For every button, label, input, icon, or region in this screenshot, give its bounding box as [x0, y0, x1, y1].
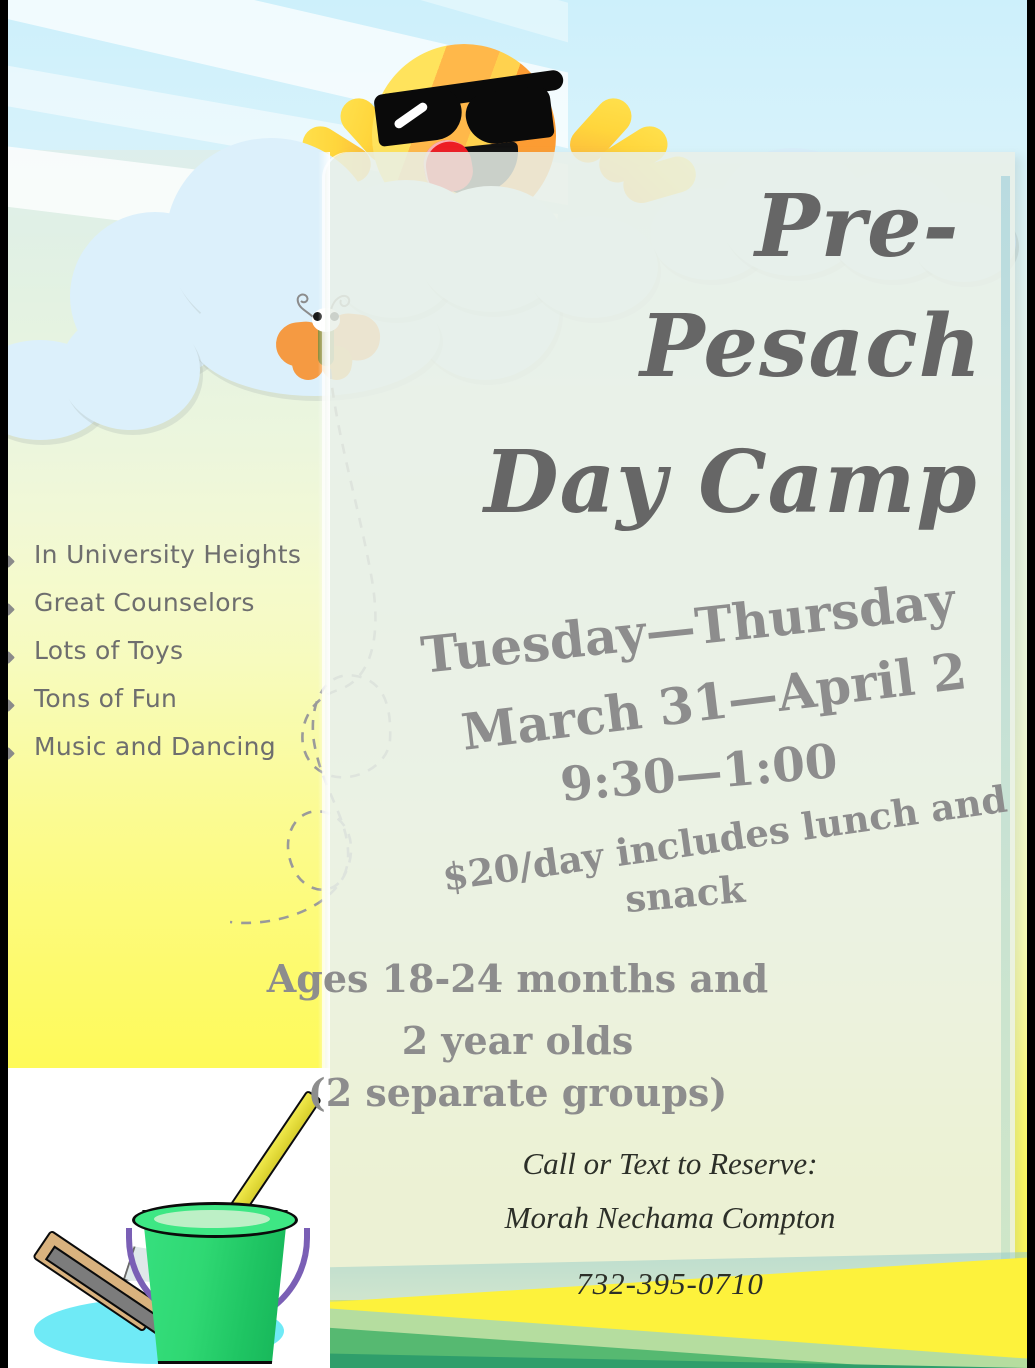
panel-right-rail [1001, 176, 1010, 1300]
ages-line-3: (2 separate groups) [0, 1070, 1035, 1115]
page-title-line-2: Pesach [640, 296, 982, 397]
page-title-line-3: Day Camp [484, 432, 978, 533]
list-item-label: Lots of Toys [34, 636, 183, 665]
features-list: In University Heights Great Counselors L… [0, 540, 330, 780]
ages-line-2: 2 year olds [0, 1018, 1035, 1063]
ages-line-1: Ages 18-24 months and [0, 956, 1035, 1001]
flyer-canvas: Pre- Pesach Day Camp In University Heigh… [0, 0, 1035, 1368]
contact-name: Morah Nechama Compton [325, 1200, 1015, 1236]
contact-prompt: Call or Text to Reserve: [325, 1146, 1015, 1182]
contact-phone[interactable]: 732-395-0710 [325, 1266, 1015, 1302]
list-item: Great Counselors [0, 588, 330, 636]
page-title-line-1: Pre- [755, 176, 959, 277]
list-item: Lots of Toys [0, 636, 330, 684]
list-item-label: Tons of Fun [34, 684, 177, 713]
list-item-label: Music and Dancing [34, 732, 276, 761]
page-border-right [1027, 0, 1035, 1368]
list-item-label: In University Heights [34, 540, 301, 569]
cloud-icon-far-left [0, 300, 260, 430]
list-item: Music and Dancing [0, 732, 330, 780]
list-item-label: Great Counselors [34, 588, 255, 617]
list-item: In University Heights [0, 540, 330, 588]
list-item: Tons of Fun [0, 684, 330, 732]
page-border-left [0, 0, 8, 1368]
